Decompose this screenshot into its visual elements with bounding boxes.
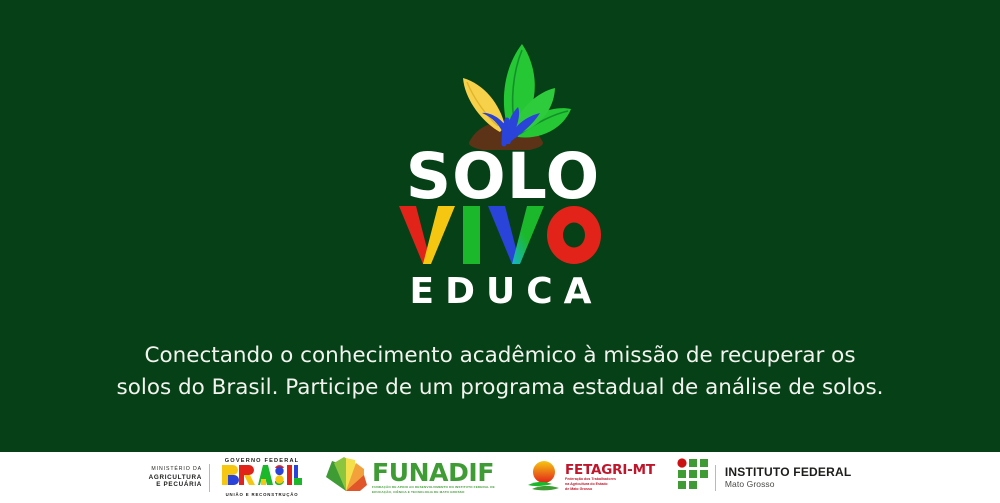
footer-divider [209, 464, 210, 492]
uniao-reconstrucao-label: UNIÃO E RECONSTRUÇÃO [222, 492, 302, 497]
funadif-subtitle: FUNDAÇÃO DE APOIO AO DESENVOLVIMENTO DO … [372, 485, 504, 494]
brand-logotype: SOLO [0, 148, 1000, 312]
logo-funadif: FUNADIF FUNDAÇÃO DE APOIO AO DESENVOLVIM… [324, 456, 504, 500]
instituto-federal-line-1: INSTITUTO FEDERAL [725, 466, 852, 479]
tagline: Conectando o conhecimento acadêmico à mi… [0, 340, 1000, 404]
ministerio-text: MINISTÉRIO DA AGRICULTURA E PECUÁRIA [149, 466, 209, 489]
hero-section: SOLO [0, 0, 1000, 452]
fetagri-sun-field-icon [526, 455, 562, 500]
brand-line-educa: EDUCA [12, 272, 1000, 312]
tagline-line-1: Conectando o conhecimento acadêmico à mi… [0, 340, 1000, 372]
instituto-federal-line-2: Mato Grosso [725, 479, 852, 490]
if-grid-icon [677, 458, 711, 497]
footer-divider [715, 465, 716, 491]
brand-line-vivo [0, 202, 1000, 274]
tagline-line-2: solos do Brasil. Participe de um program… [0, 372, 1000, 404]
footer-logo-bar: MINISTÉRIO DA AGRICULTURA E PECUÁRIA GOV… [0, 452, 1000, 503]
fetagri-sub-line-3: de Mato Grosso [565, 487, 635, 492]
funadif-fan-leaf-icon [324, 455, 368, 500]
sprout-plant-icon [430, 22, 580, 150]
landing-page: SOLO [0, 0, 1000, 503]
ministerio-line-3: E PECUÁRIA [149, 481, 202, 489]
logo-fetagri-mt: FETAGRI-MT Federação dos Trabalhadores n… [526, 456, 655, 500]
logo-ministerio-da-agricultura-e-pecuaria: MINISTÉRIO DA AGRICULTURA E PECUÁRIA [149, 456, 218, 500]
logo-governo-federal-brasil: GOVERNO FEDERAL [222, 456, 302, 500]
ministerio-line-1: MINISTÉRIO DA [149, 466, 202, 474]
brasil-wordmark-icon [222, 465, 302, 490]
logo-instituto-federal-mato-grosso: INSTITUTO FEDERAL Mato Grosso [677, 456, 852, 500]
fetagri-wordmark: FETAGRI-MT [565, 463, 655, 477]
funadif-wordmark: FUNADIF [372, 461, 504, 485]
brand-line-solo: SOLO [6, 148, 1000, 206]
governo-federal-label: GOVERNO FEDERAL [222, 458, 302, 464]
